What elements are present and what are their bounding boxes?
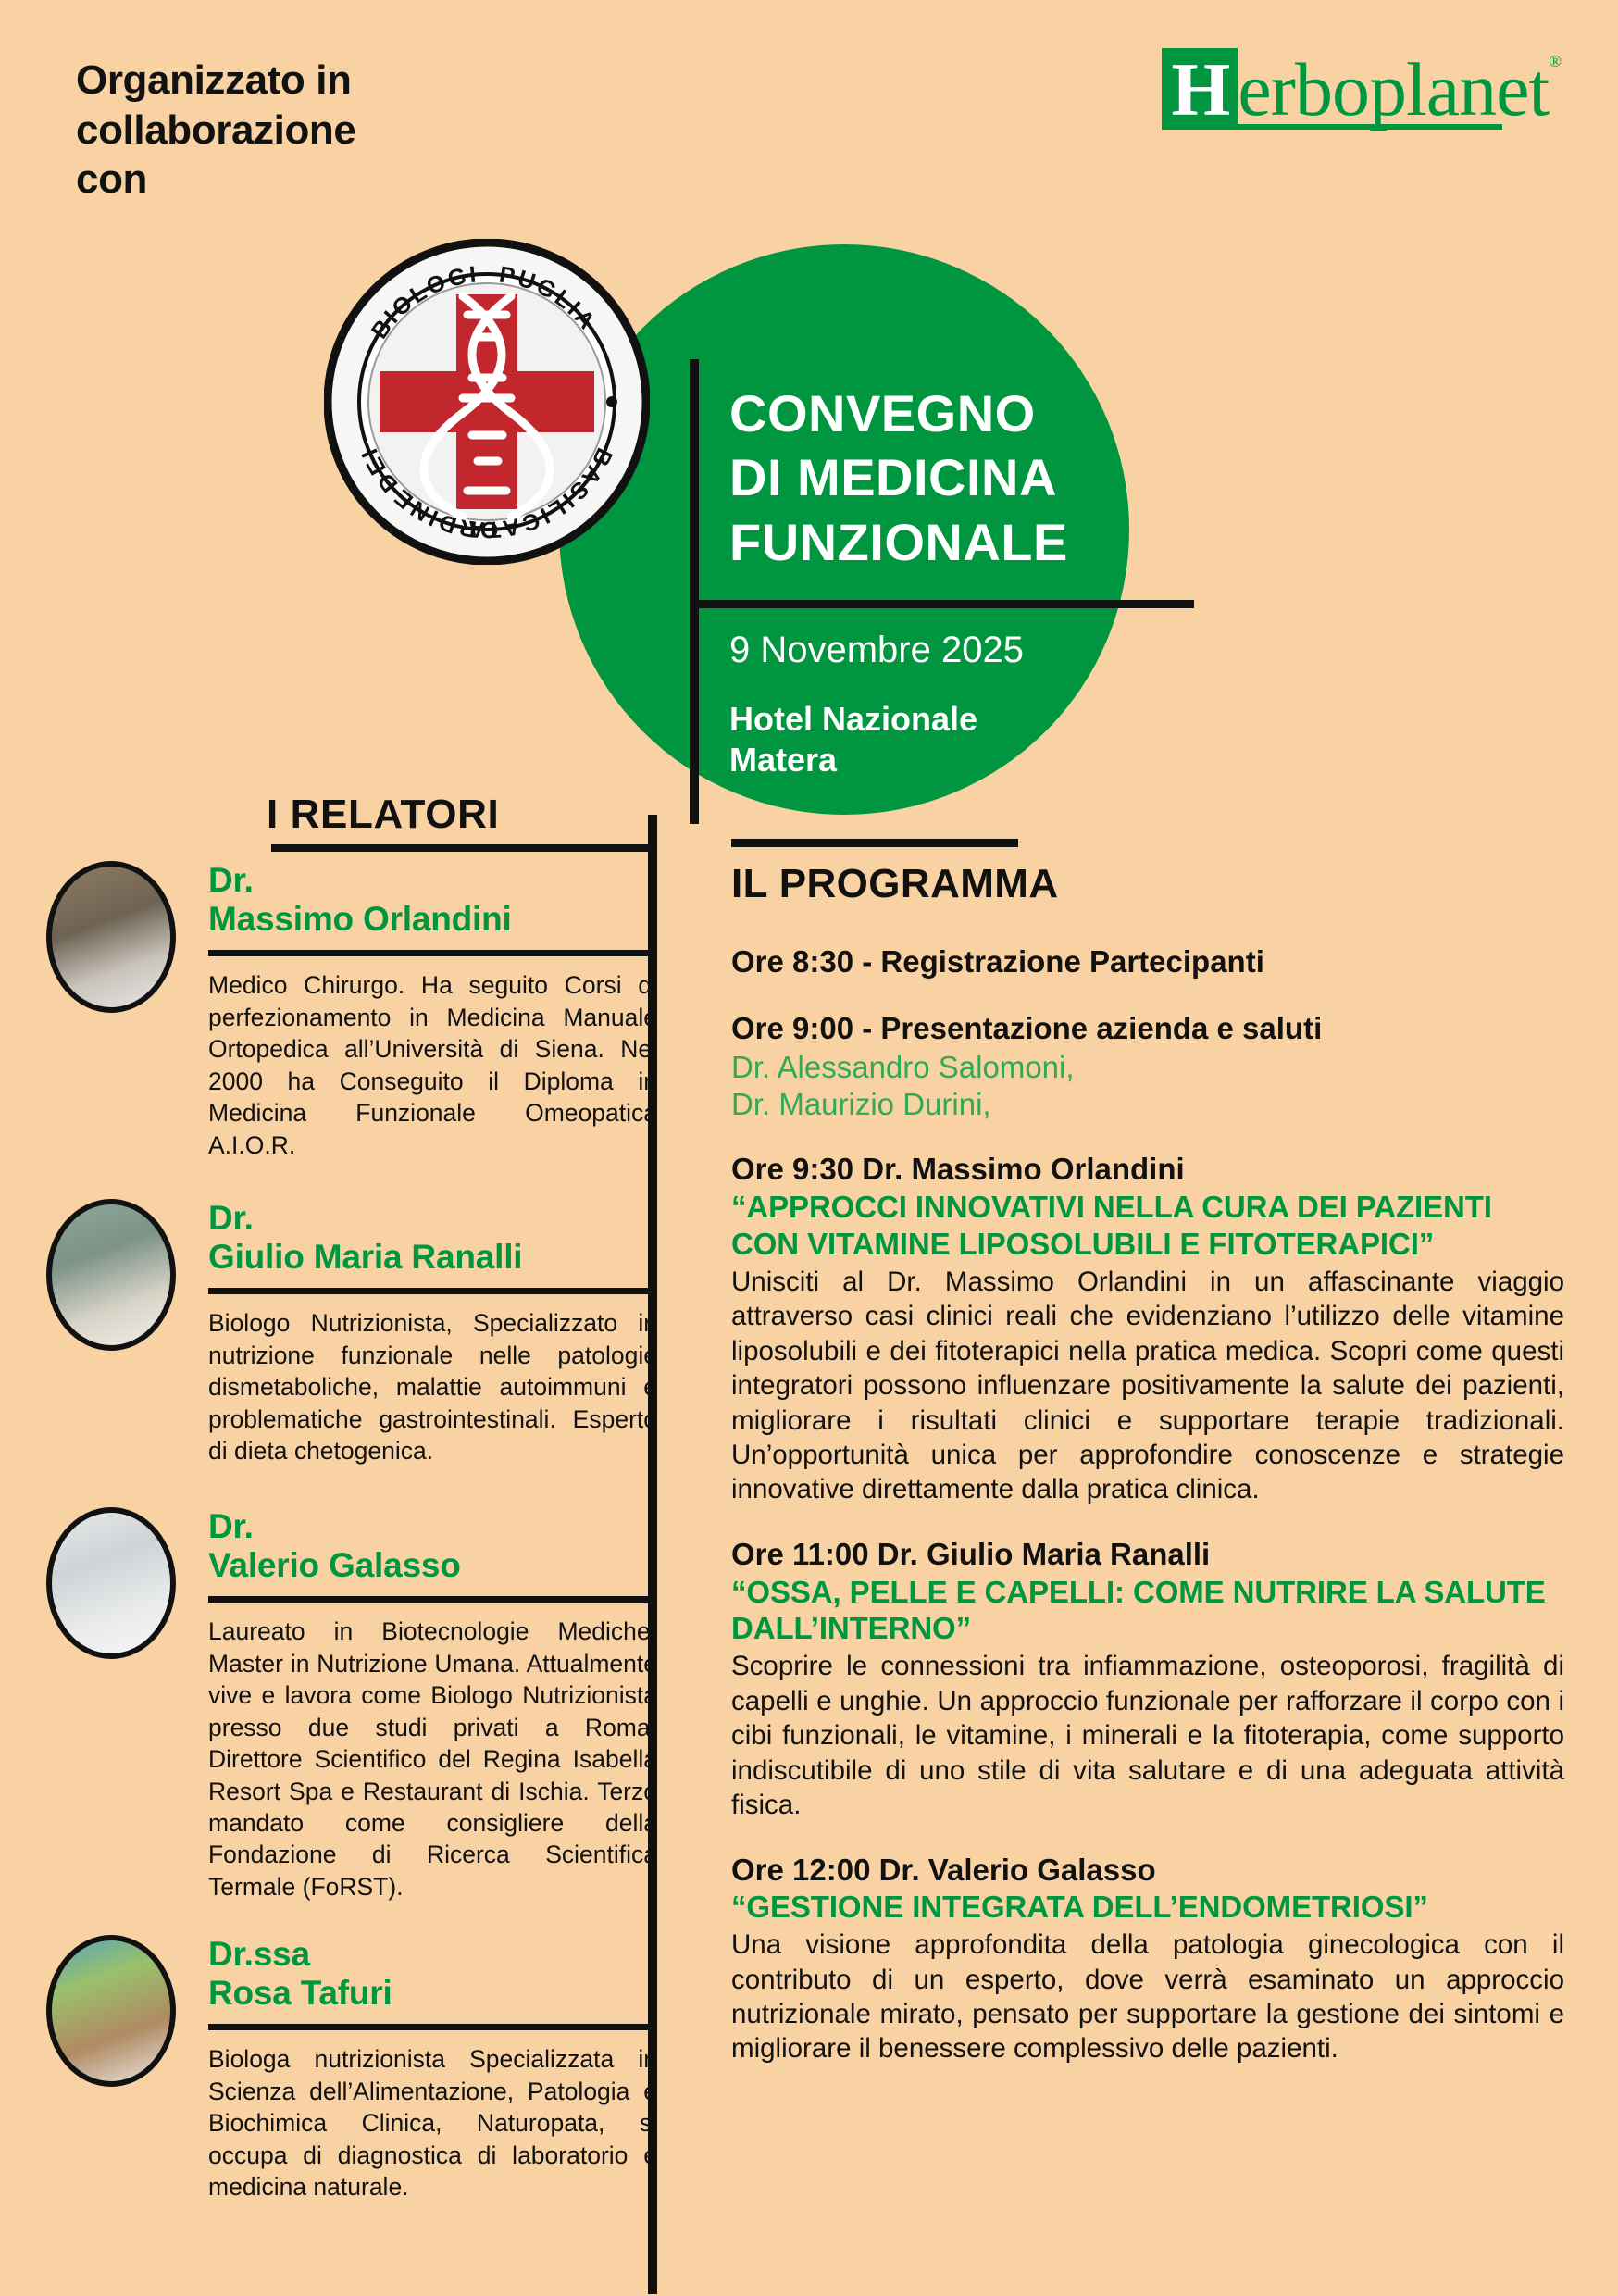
ordine-biologi-seal-logo: BIOLOGI PUGLIA BASILICATA ORDINE DEI (324, 239, 650, 565)
program-host-name: Dr. Maurizio Durini, (731, 1086, 1564, 1123)
program-item: Ore 11:00 Dr. Giulio Maria Ranalli“OSSA,… (731, 1535, 1564, 1823)
speaker-fullname: Rosa Tafuri (208, 1974, 657, 2013)
program-item: Ore 12:00 Dr. Valerio Galasso“GESTIONE I… (731, 1851, 1564, 2066)
program-list: Ore 8:30 - Registrazione PartecipantiOre… (731, 942, 1564, 2094)
speaker-fullname: Giulio Maria Ranalli (208, 1238, 657, 1277)
organizer-credit-line3: con (76, 155, 465, 205)
speaker-card: Dr.ssaRosa TafuriBiologa nutrizionista S… (46, 1935, 657, 2203)
speaker-bio: Biologa nutrizionista Specializzata in S… (208, 2043, 657, 2202)
event-venue-line1: Hotel Nazionale (729, 699, 977, 740)
program-heading-rule (731, 839, 1018, 847)
program-item-description: Scoprire le connessioni tra infiammazion… (731, 1649, 1564, 1822)
speaker-rule (208, 950, 657, 956)
program-item-time: Ore 9:30 Dr. Massimo Orlandini (731, 1150, 1564, 1189)
conference-poster: Organizzato in collaborazione con H erbo… (0, 0, 1618, 2296)
speaker-name: Dr.Massimo Orlandini (208, 861, 657, 939)
program-heading: IL PROGRAMMA (731, 861, 1059, 907)
hero-horizontal-rule (690, 600, 1194, 608)
program-host-name: Dr. Alessandro Salomoni, (731, 1049, 1564, 1086)
speaker-fullname: Massimo Orlandini (208, 900, 657, 939)
speakers-heading: I RELATORI (267, 792, 499, 838)
event-venue-line2: Matera (729, 740, 977, 780)
organizer-credit-line1: Organizzato in (76, 56, 465, 106)
speakers-heading-rule (271, 844, 653, 852)
speaker-avatar (46, 1507, 176, 1659)
herboplanet-logo: H erboplanet ® (1162, 48, 1561, 130)
speaker-card: Dr.Giulio Maria RanalliBiologo Nutrizion… (46, 1199, 657, 1467)
speaker-card: Dr.Valerio GalassoLaureato in Biotecnolo… (46, 1507, 657, 1903)
program-item: Ore 9:30 Dr. Massimo Orlandini“APPROCCI … (731, 1150, 1564, 1507)
herboplanet-initial: H (1162, 48, 1238, 130)
page-title: CONVEGNO DI MEDICINA FUNZIONALE (729, 381, 1127, 574)
speaker-title: Dr.ssa (208, 1935, 657, 1974)
registered-trademark-icon: ® (1549, 48, 1561, 130)
speaker-rule (208, 2024, 657, 2030)
page-title-line3: FUNZIONALE (729, 510, 1127, 574)
hero-vertical-rule (690, 359, 699, 824)
program-item: Ore 9:00 - Presentazione azienda e salut… (731, 1009, 1564, 1123)
speaker-name: Dr.Valerio Galasso (208, 1507, 657, 1585)
speaker-title: Dr. (208, 861, 657, 900)
program-item-talk-title: “APPROCCI INNOVATIVI NELLA CURA DEI PAZI… (731, 1189, 1564, 1263)
speaker-name: Dr.Giulio Maria Ranalli (208, 1199, 657, 1277)
speaker-bio: Biologo Nutrizionista, Specializzato in … (208, 1307, 657, 1466)
program-item-talk-title: “GESTIONE INTEGRATA DELL’ENDOMETRIOSI” (731, 1889, 1564, 1926)
speaker-rule (208, 1288, 657, 1294)
event-venue: Hotel Nazionale Matera (729, 699, 977, 780)
seal-separator-dot (606, 396, 617, 407)
program-item-description: Una visione approfondita della patologia… (731, 1928, 1564, 2066)
speaker-title: Dr. (208, 1507, 657, 1546)
program-item-talk-title: “OSSA, PELLE E CAPELLI: COME NUTRIRE LA … (731, 1574, 1564, 1648)
page-title-line2: DI MEDICINA (729, 445, 1127, 509)
organizer-credit-line2: collaborazione (76, 106, 465, 156)
program-item-time: Ore 8:30 - Registrazione Partecipanti (731, 942, 1564, 981)
page-title-line1: CONVEGNO (729, 381, 1127, 445)
organizer-credit: Organizzato in collaborazione con (76, 56, 465, 205)
speaker-card: Dr.Massimo OrlandiniMedico Chirurgo. Ha … (46, 861, 657, 1161)
program-item-time: Ore 12:00 Dr. Valerio Galasso (731, 1851, 1564, 1890)
speaker-bio: Laureato in Biotecnologie Mediche, Maste… (208, 1616, 657, 1903)
program-item-time: Ore 9:00 - Presentazione azienda e salut… (731, 1009, 1564, 1048)
speaker-rule (208, 1596, 657, 1603)
herboplanet-word: erboplanet (1238, 48, 1549, 130)
herboplanet-underline (1162, 124, 1502, 130)
speaker-avatar (46, 861, 176, 1013)
speaker-avatar (46, 1935, 176, 2087)
program-item: Ore 8:30 - Registrazione Partecipanti (731, 942, 1564, 981)
speaker-bio: Medico Chirurgo. Ha seguito Corsi di per… (208, 969, 657, 1161)
speaker-avatar (46, 1199, 176, 1351)
program-item-description: Unisciti al Dr. Massimo Orlandini in un … (731, 1265, 1564, 1507)
herboplanet-wordmark: H erboplanet ® (1162, 48, 1561, 130)
speaker-fullname: Valerio Galasso (208, 1546, 657, 1585)
program-item-hosts: Dr. Alessandro Salomoni,Dr. Maurizio Dur… (731, 1049, 1564, 1122)
speaker-name: Dr.ssaRosa Tafuri (208, 1935, 657, 2013)
speaker-title: Dr. (208, 1199, 657, 1238)
program-item-time: Ore 11:00 Dr. Giulio Maria Ranalli (731, 1535, 1564, 1574)
event-date: 9 Novembre 2025 (729, 630, 1024, 671)
